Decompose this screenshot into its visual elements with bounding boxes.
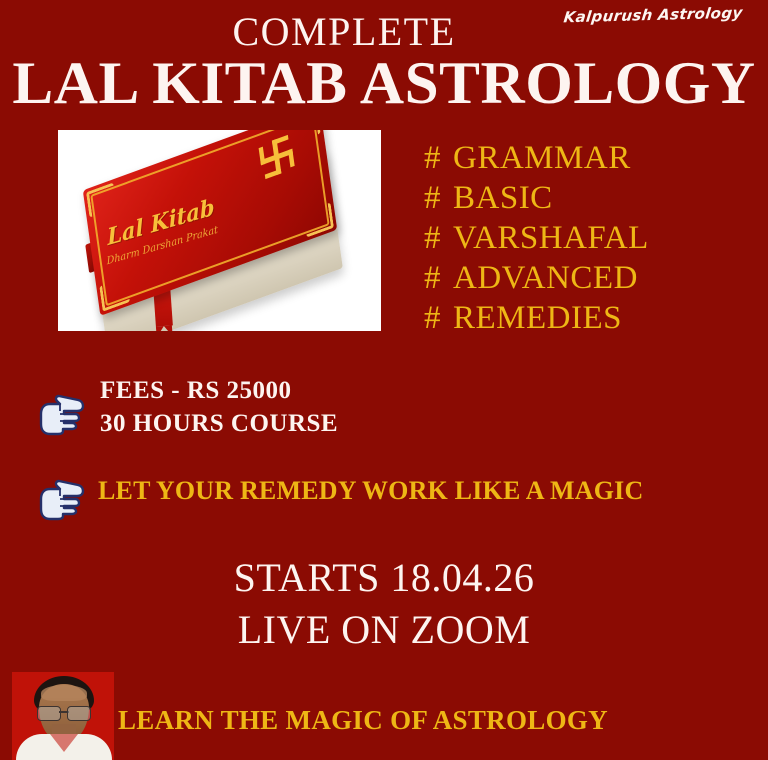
portrait-forehead [41,685,87,701]
hash-bullet-icon: # [424,180,441,216]
feature-label: REMEDIES [453,300,622,336]
feature-item-advanced: #ADVANCED [424,258,744,298]
portrait-lens-left [37,706,61,721]
hash-bullet-icon: # [424,140,441,176]
course-duration: 30 HOURS COURSE [100,407,338,440]
course-feature-list: #GRAMMAR #BASIC #VARSHAFAL #ADVANCED #RE… [424,138,744,338]
book-image: Lal Kitab Dharm Darshan Prakat [58,130,381,331]
remedy-tagline: LET YOUR REMEDY WORK LIKE A MAGIC [98,476,643,506]
pointing-hand-icon [34,388,86,436]
feature-item-grammar: #GRAMMAR [424,138,744,178]
fees-amount: FEES - RS 25000 [100,374,338,407]
headline-eyebrow: COMPLETE [0,10,768,54]
lal-kitab-astrology-poster: Kalpurush Astrology COMPLETE LAL KITAB A… [0,0,768,760]
hash-bullet-icon: # [424,220,441,256]
hash-bullet-icon: # [424,300,441,336]
pointing-hand-icon [34,473,86,521]
book-image-canvas: Lal Kitab Dharm Darshan Prakat [58,130,381,331]
hash-bullet-icon: # [424,260,441,296]
feature-label: ADVANCED [453,260,638,296]
portrait-lens-right [67,706,91,721]
feature-item-basic: #BASIC [424,178,744,218]
feature-label: VARSHAFAL [453,220,649,256]
delivery-platform: LIVE ON ZOOM [0,604,768,656]
page-title: LAL KITAB ASTROLOGY [0,52,768,114]
feature-label: BASIC [453,180,553,216]
feature-item-varshafal: #VARSHAFAL [424,218,744,258]
feature-label: GRAMMAR [453,140,631,176]
fees-block: FEES - RS 25000 30 HOURS COURSE [100,374,338,440]
feature-item-remedies: #REMEDIES [424,298,744,338]
start-date: STARTS 18.04.26 [0,552,768,604]
footer-tagline: LEARN THE MAGIC OF ASTROLOGY [118,705,608,736]
portrait-glasses [36,706,92,719]
instructor-photo [12,672,114,760]
